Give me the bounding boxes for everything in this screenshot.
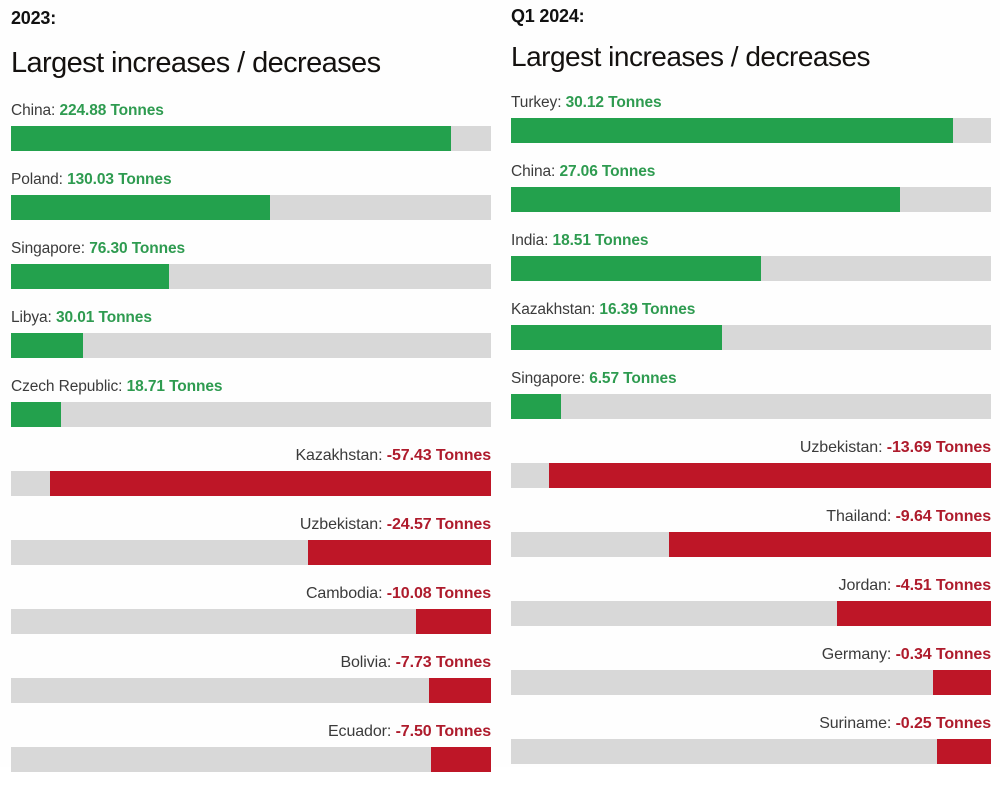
bar-row: Cambodia: -10.08 Tonnes xyxy=(11,584,491,653)
bar-label: Czech Republic: 18.71 Tonnes xyxy=(11,377,491,402)
bar-country-name: Singapore: xyxy=(511,370,585,387)
bar-country-name: Libya: xyxy=(11,309,52,326)
bar-label: Cambodia: -10.08 Tonnes xyxy=(11,584,491,609)
bar-fill-increase xyxy=(511,256,761,281)
bar-country-name: Singapore: xyxy=(11,240,85,257)
bar-label: Uzbekistan: -13.69 Tonnes xyxy=(511,438,991,463)
bar-value: -0.25 Tonnes xyxy=(896,715,991,732)
bar-country-name: Suriname: xyxy=(819,715,891,732)
bar-track xyxy=(11,333,491,358)
bar-value: -13.69 Tonnes xyxy=(887,439,991,456)
panel-title-q1-2024: Largest increases / decreases xyxy=(511,27,991,74)
bar-fill-increase xyxy=(11,126,451,151)
bar-fill-decrease xyxy=(416,609,491,634)
bar-row: Libya: 30.01 Tonnes xyxy=(11,308,491,377)
bar-country-name: Turkey: xyxy=(511,94,561,111)
bar-fill-increase xyxy=(11,333,83,358)
bar-country-name: Thailand: xyxy=(826,508,891,525)
bar-country-name: Kazakhstan: xyxy=(295,447,382,464)
bar-row: Uzbekistan: -13.69 Tonnes xyxy=(511,438,991,507)
bar-label: Turkey: 30.12 Tonnes xyxy=(511,93,991,118)
bar-fill-increase xyxy=(511,187,900,212)
bar-row: Ecuador: -7.50 Tonnes xyxy=(11,722,491,791)
bar-fill-increase xyxy=(11,264,169,289)
bar-value: -4.51 Tonnes xyxy=(896,577,991,594)
bar-row: China: 27.06 Tonnes xyxy=(511,162,991,231)
bar-fill-increase xyxy=(511,118,953,143)
bar-track xyxy=(11,609,491,634)
bar-country-name: Uzbekistan: xyxy=(300,516,383,533)
bar-track xyxy=(11,402,491,427)
bar-country-name: Kazakhstan: xyxy=(511,301,595,318)
bar-track xyxy=(511,670,991,695)
bar-row: China: 224.88 Tonnes xyxy=(11,101,491,170)
bar-label: Uzbekistan: -24.57 Tonnes xyxy=(11,515,491,540)
bar-country-name: Poland: xyxy=(11,171,63,188)
bar-row: Singapore: 76.30 Tonnes xyxy=(11,239,491,308)
bar-value: 30.01 Tonnes xyxy=(56,309,152,326)
bar-fill-decrease xyxy=(837,601,991,626)
bar-track xyxy=(511,394,991,419)
bar-row: Kazakhstan: -57.43 Tonnes xyxy=(11,446,491,515)
bar-fill-increase xyxy=(511,394,561,419)
bar-label: China: 27.06 Tonnes xyxy=(511,162,991,187)
bar-track xyxy=(11,264,491,289)
bar-row: Poland: 130.03 Tonnes xyxy=(11,170,491,239)
bar-value: -7.50 Tonnes xyxy=(396,723,491,740)
bar-value: -9.64 Tonnes xyxy=(896,508,991,525)
bar-country-name: Uzbekistan: xyxy=(800,439,883,456)
bar-country-name: China: xyxy=(11,102,55,119)
bar-country-name: Cambodia: xyxy=(306,585,382,602)
bar-fill-increase xyxy=(11,195,270,220)
bar-track xyxy=(511,325,991,350)
bar-track xyxy=(11,126,491,151)
panel-title-2023: Largest increases / decreases xyxy=(11,29,491,80)
bar-fill-decrease xyxy=(50,471,491,496)
bar-fill-decrease xyxy=(549,463,991,488)
bar-country-name: Ecuador: xyxy=(328,723,391,740)
bar-value: 30.12 Tonnes xyxy=(566,94,662,111)
panel-q1-2024: Q1 2024: Largest increases / decreases T… xyxy=(500,0,1000,767)
bar-label: China: 224.88 Tonnes xyxy=(11,101,491,126)
bar-track xyxy=(511,532,991,557)
bar-value: 6.57 Tonnes xyxy=(589,370,676,387)
bar-label: Bolivia: -7.73 Tonnes xyxy=(11,653,491,678)
bar-value: -10.08 Tonnes xyxy=(387,585,491,602)
bar-value: -24.57 Tonnes xyxy=(387,516,491,533)
bar-row: Thailand: -9.64 Tonnes xyxy=(511,507,991,576)
bar-label: Ecuador: -7.50 Tonnes xyxy=(11,722,491,747)
bar-track xyxy=(511,601,991,626)
bar-label: Poland: 130.03 Tonnes xyxy=(11,170,491,195)
bar-country-name: India: xyxy=(511,232,548,249)
bar-value: 18.51 Tonnes xyxy=(553,232,649,249)
bar-track xyxy=(511,463,991,488)
bar-label: Jordan: -4.51 Tonnes xyxy=(511,576,991,601)
bar-fill-decrease xyxy=(429,678,491,703)
bar-country-name: Bolivia: xyxy=(340,654,391,671)
bar-track xyxy=(511,739,991,764)
bar-value: 130.03 Tonnes xyxy=(67,171,171,188)
chart-page: 2023: Largest increases / decreases Chin… xyxy=(0,0,1000,767)
bar-track xyxy=(511,118,991,143)
bar-country-name: Germany: xyxy=(822,646,891,663)
bar-label: Suriname: -0.25 Tonnes xyxy=(511,714,991,739)
bar-fill-decrease xyxy=(431,747,491,772)
bar-fill-decrease xyxy=(937,739,991,764)
bar-label: Singapore: 76.30 Tonnes xyxy=(11,239,491,264)
bar-country-name: Jordan: xyxy=(839,577,892,594)
bar-list-q1-2024: Turkey: 30.12 TonnesChina: 27.06 TonnesI… xyxy=(511,74,991,783)
bar-row: Czech Republic: 18.71 Tonnes xyxy=(11,377,491,446)
period-label-2023: 2023: xyxy=(11,0,491,29)
bar-row: Suriname: -0.25 Tonnes xyxy=(511,714,991,783)
bar-row: Germany: -0.34 Tonnes xyxy=(511,645,991,714)
bar-label: Kazakhstan: -57.43 Tonnes xyxy=(11,446,491,471)
bar-label: Kazakhstan: 16.39 Tonnes xyxy=(511,300,991,325)
bar-fill-increase xyxy=(11,402,61,427)
period-label-q1-2024: Q1 2024: xyxy=(511,0,991,27)
panel-2023: 2023: Largest increases / decreases Chin… xyxy=(0,0,500,767)
bar-track xyxy=(511,187,991,212)
bar-list-2023: China: 224.88 TonnesPoland: 130.03 Tonne… xyxy=(11,80,491,791)
bar-fill-decrease xyxy=(308,540,491,565)
bar-row: Singapore: 6.57 Tonnes xyxy=(511,369,991,438)
bar-value: 16.39 Tonnes xyxy=(599,301,695,318)
bar-value: -7.73 Tonnes xyxy=(396,654,491,671)
bar-label: Libya: 30.01 Tonnes xyxy=(11,308,491,333)
bar-track xyxy=(511,256,991,281)
bar-label: India: 18.51 Tonnes xyxy=(511,231,991,256)
bar-fill-increase xyxy=(511,325,722,350)
bar-row: Jordan: -4.51 Tonnes xyxy=(511,576,991,645)
bar-value: 27.06 Tonnes xyxy=(559,163,655,180)
bar-row: India: 18.51 Tonnes xyxy=(511,231,991,300)
bar-track xyxy=(11,747,491,772)
bar-label: Singapore: 6.57 Tonnes xyxy=(511,369,991,394)
bar-value: 18.71 Tonnes xyxy=(127,378,223,395)
bar-country-name: Czech Republic: xyxy=(11,378,122,395)
bar-country-name: China: xyxy=(511,163,555,180)
bar-label: Germany: -0.34 Tonnes xyxy=(511,645,991,670)
bar-row: Kazakhstan: 16.39 Tonnes xyxy=(511,300,991,369)
bar-value: -0.34 Tonnes xyxy=(896,646,991,663)
bar-label: Thailand: -9.64 Tonnes xyxy=(511,507,991,532)
bar-value: 224.88 Tonnes xyxy=(59,102,163,119)
bar-track xyxy=(11,540,491,565)
bar-value: 76.30 Tonnes xyxy=(89,240,185,257)
bar-track xyxy=(11,471,491,496)
bar-row: Bolivia: -7.73 Tonnes xyxy=(11,653,491,722)
bar-track xyxy=(11,195,491,220)
bar-row: Uzbekistan: -24.57 Tonnes xyxy=(11,515,491,584)
bar-fill-decrease xyxy=(933,670,991,695)
bar-value: -57.43 Tonnes xyxy=(387,447,491,464)
bar-row: Turkey: 30.12 Tonnes xyxy=(511,93,991,162)
bar-track xyxy=(11,678,491,703)
bar-fill-decrease xyxy=(669,532,991,557)
